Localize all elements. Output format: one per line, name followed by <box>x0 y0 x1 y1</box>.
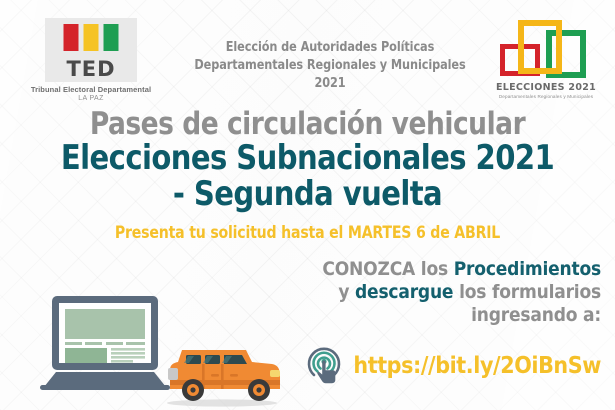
ted-logo-bars <box>64 24 119 51</box>
ted-bar-yellow <box>84 24 99 51</box>
cta-line-2: y descargue los formularios <box>241 281 601 304</box>
laptop-screen-text-line-2 <box>111 352 145 355</box>
cta-line-2-prefix: y <box>338 281 355 303</box>
header-line-1: Elección de Autoridades Políticas <box>181 38 479 56</box>
header-line-2: Departamentales Regionales y Municipales… <box>181 56 479 92</box>
cta-block: CONOZCA los Procedimientos y descargue l… <box>241 258 601 328</box>
poster-canvas: TED Tribunal Electoral Departamental LA … <box>0 0 615 410</box>
elections-logo-subtitle: Departamentales Regionales y Municipales <box>487 94 605 99</box>
cta-procedimientos: Procedimientos <box>454 258 601 280</box>
laptop-screen-navbar-3 <box>106 342 123 345</box>
jeep-door-divider-2 <box>221 364 224 389</box>
laptop-screen-text-line-3 <box>111 356 145 359</box>
laptop-base <box>44 372 166 387</box>
laptop-screen-navbar-1 <box>65 342 82 345</box>
ted-logo-mark: TED <box>45 18 137 82</box>
laptop-screen-navbar-4 <box>126 342 145 345</box>
headline-line-2: Elecciones Subnacionales 2021 <box>15 141 599 177</box>
jeep-illustration <box>160 338 285 410</box>
cta-line-2-suffix: los formularios <box>453 281 601 303</box>
laptop-screen-text-line-4 <box>111 360 133 363</box>
elections-logo-mark <box>494 18 598 80</box>
elections-square-yellow <box>518 20 562 74</box>
jeep-hub-rear <box>190 387 195 392</box>
ted-bar-green <box>104 24 119 51</box>
headline-line-3: - Segunda vuelta <box>15 177 599 213</box>
headline-block: Pases de circulación vehicular Eleccione… <box>0 108 615 242</box>
laptop-screen-text-line-1 <box>111 348 145 351</box>
cta-line-3: ingresando a: <box>241 304 601 327</box>
header-title: Elección de Autoridades Políticas Depart… <box>181 38 479 93</box>
deadline-text: Presenta tu solicitud hasta el MARTES 6 … <box>15 223 599 242</box>
headline-line-1: Pases de circulación vehicular <box>15 108 599 141</box>
url-row[interactable]: https://bit.ly/2OiBnSw <box>303 345 601 387</box>
jeep-hub-front <box>256 387 261 392</box>
ted-subtitle-line1: Tribunal Electoral Departamental <box>16 85 166 94</box>
elections-logo-title: ELECCIONES 2021 <box>487 82 605 93</box>
ted-logo: TED Tribunal Electoral Departamental LA … <box>16 18 166 104</box>
jeep-headlight <box>270 370 280 377</box>
tap-click-icon <box>303 345 345 387</box>
jeep-spare-tire <box>168 368 178 380</box>
cta-descargue: descargue <box>355 281 453 303</box>
cta-line-1-plain: CONOZCA los <box>322 258 453 280</box>
laptop-screen-hero-block <box>65 309 145 339</box>
cta-line-1: CONOZCA los Procedimientos <box>241 258 601 281</box>
laptop-base-edge <box>40 385 170 390</box>
ted-bar-red <box>64 24 79 51</box>
laptop-screen-image-block <box>65 348 107 363</box>
laptop-illustration <box>22 292 172 397</box>
elections-logo: ELECCIONES 2021 Departamentales Regional… <box>487 18 605 99</box>
jeep-door-handle-2 <box>230 374 238 377</box>
ted-subtitle-line2: LA PAZ <box>16 94 166 104</box>
url-link-text[interactable]: https://bit.ly/2OiBnSw <box>353 353 601 379</box>
laptop-screen-navbar-2 <box>85 342 102 345</box>
ted-acronym: TED <box>45 59 137 80</box>
jeep-door-handle-1 <box>211 374 219 377</box>
